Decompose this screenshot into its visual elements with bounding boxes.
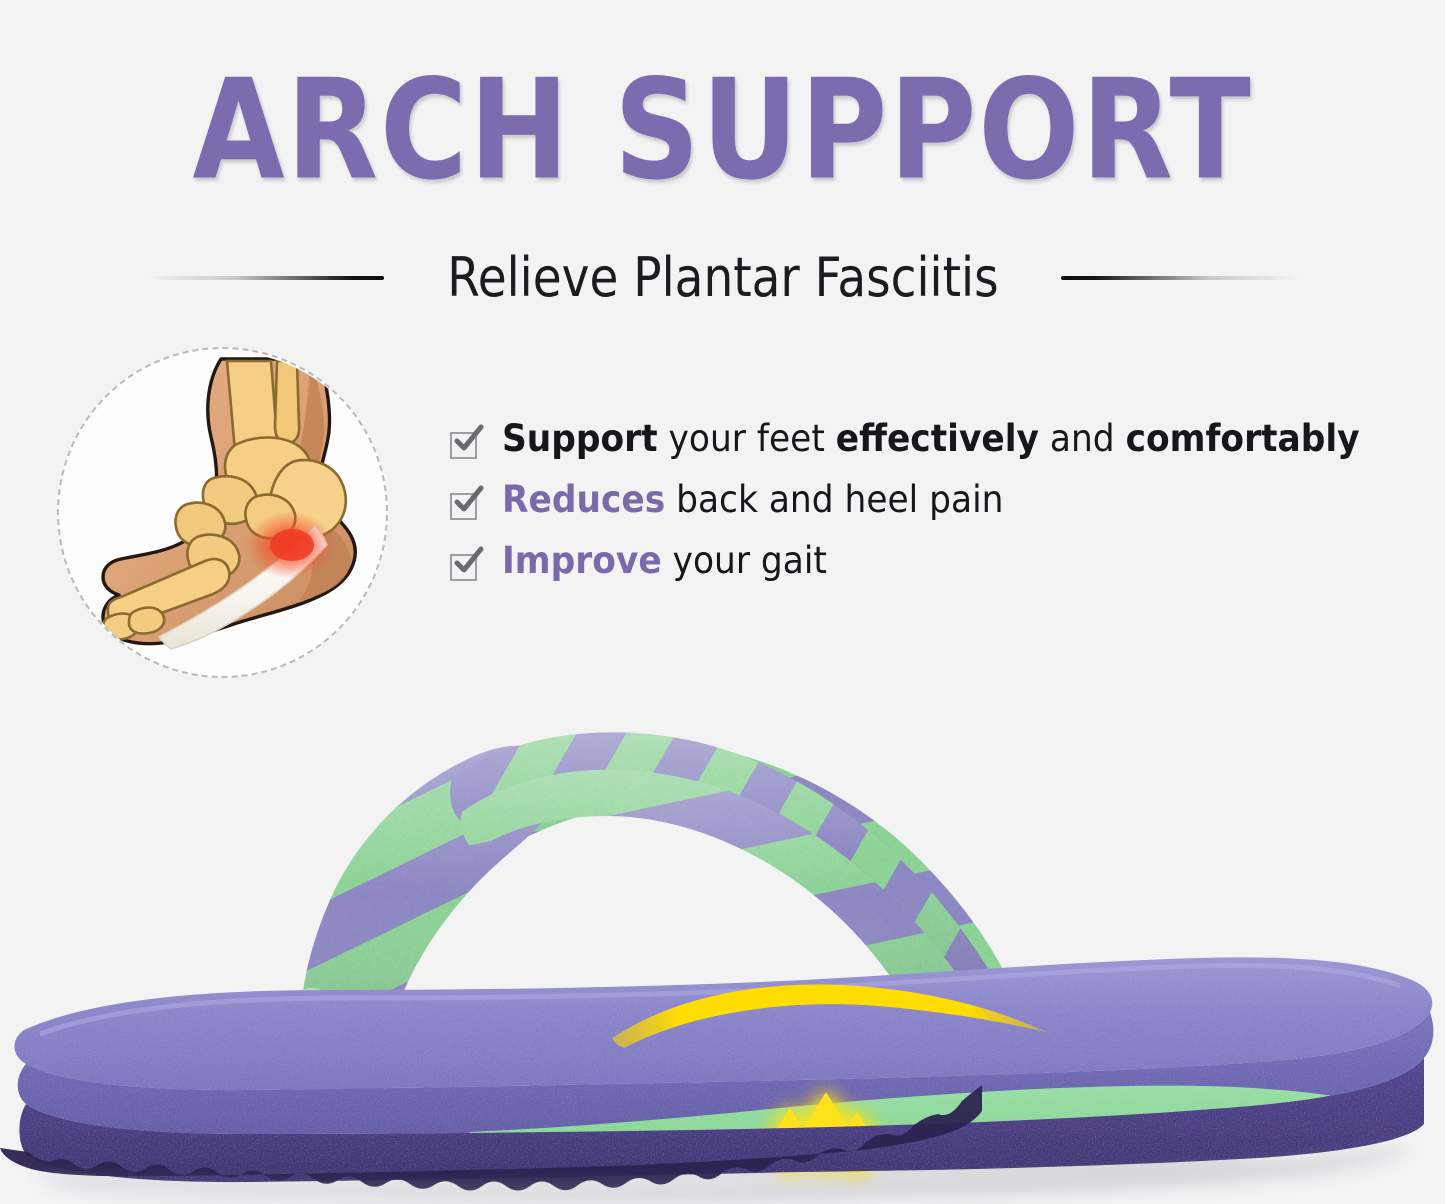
benefit-text-reduces: Reduces back and heel pain xyxy=(502,481,1003,518)
bone-phalanx-2 xyxy=(129,608,164,634)
page-title: ARCH SUPPORT xyxy=(51,62,1395,200)
subtitle: Relieve Plantar Fasciitis xyxy=(447,246,998,309)
benefit-text-support: Support your feet effectively and comfor… xyxy=(502,420,1360,457)
bone-fibula xyxy=(275,361,299,443)
product-image-sandal xyxy=(0,700,1445,1204)
foot-anatomy-svg xyxy=(59,349,388,678)
subtitle-row: Relieve Plantar Fasciitis xyxy=(0,246,1445,309)
sandal-svg xyxy=(0,700,1445,1204)
checked-checkbox-icon xyxy=(450,490,480,520)
list-item: Support your feet effectively and comfor… xyxy=(450,420,1410,459)
benefits-list: Support your feet effectively and comfor… xyxy=(450,420,1410,603)
benefit-text-improve: Improve your gait xyxy=(502,542,827,579)
checked-checkbox-icon xyxy=(450,429,480,459)
foot-anatomy-illustration xyxy=(57,347,388,678)
divider-line-left xyxy=(146,276,384,280)
list-item: Improve your gait xyxy=(450,542,1410,581)
list-item: Reduces back and heel pain xyxy=(450,481,1410,520)
checked-checkbox-icon xyxy=(450,551,480,581)
inflammation-core xyxy=(270,529,314,561)
divider-line-right xyxy=(1061,276,1299,280)
